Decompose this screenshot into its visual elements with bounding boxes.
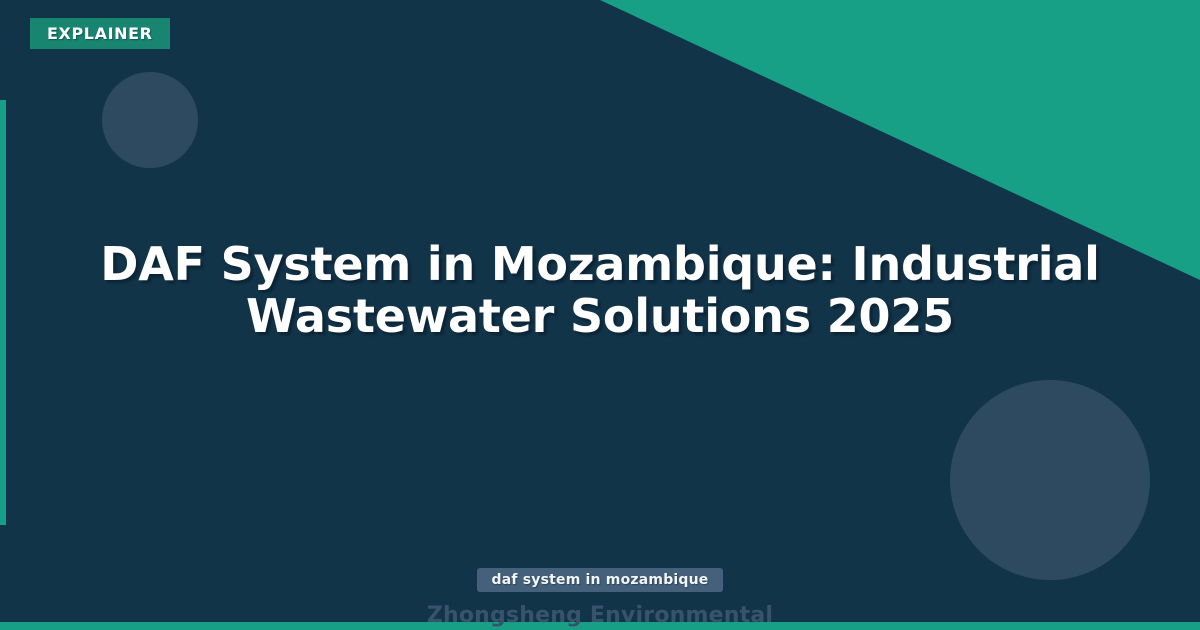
decorative-circle-bottom-right [950, 380, 1150, 580]
headline-line-2: Wastewater Solutions 2025 [246, 289, 954, 343]
keyword-tag: daf system in mozambique [477, 568, 722, 592]
decorative-circle-top-left [102, 72, 198, 168]
category-badge: EXPLAINER [30, 18, 170, 49]
headline-container: DAF System in Mozambique: Industrial Was… [60, 238, 1140, 342]
brand-name: Zhongsheng Environmental [427, 603, 773, 628]
footer-block: daf system in mozambique Zhongsheng Envi… [0, 568, 1200, 622]
page-title: DAF System in Mozambique: Industrial Was… [60, 238, 1140, 342]
headline-line-1: DAF System in Mozambique: Industrial [100, 237, 1099, 291]
left-accent-bar [0, 100, 6, 525]
social-share-card: EXPLAINER DAF System in Mozambique: Indu… [0, 0, 1200, 630]
